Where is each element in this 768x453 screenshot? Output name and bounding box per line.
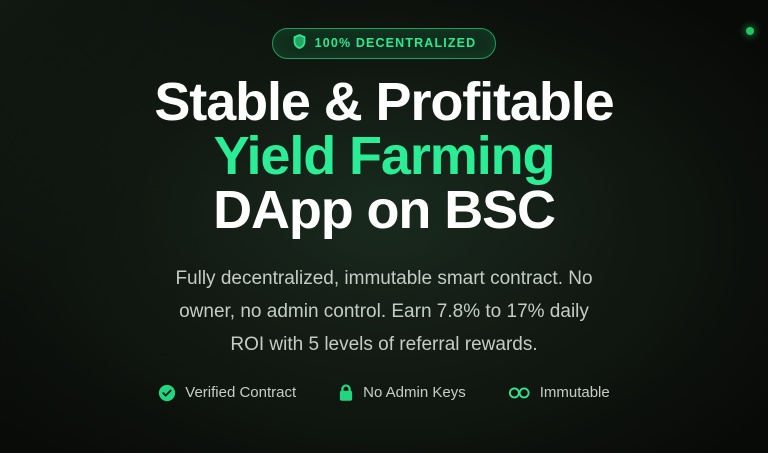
infinity-icon bbox=[508, 386, 531, 400]
feature-no-admin-keys: No Admin Keys bbox=[338, 383, 466, 402]
hero-description: Fully decentralized, immutable smart con… bbox=[174, 237, 594, 361]
feature-label: Verified Contract bbox=[185, 385, 296, 400]
decentralized-badge: 100% DECENTRALIZED bbox=[272, 28, 497, 59]
headline-line-1: Stable & Profitable bbox=[154, 75, 613, 129]
lock-icon bbox=[338, 383, 354, 402]
hero-section: 100% DECENTRALIZED Stable & Profitable Y… bbox=[0, 0, 768, 453]
check-circle-icon bbox=[158, 384, 176, 402]
feature-label: No Admin Keys bbox=[363, 385, 466, 400]
status-dot bbox=[746, 27, 754, 35]
headline-line-3: DApp on BSC bbox=[154, 183, 613, 237]
badge-label: 100% DECENTRALIZED bbox=[315, 37, 477, 50]
feature-immutable: Immutable bbox=[508, 385, 610, 400]
shield-icon bbox=[292, 33, 307, 55]
headline-line-2: Yield Farming bbox=[154, 129, 613, 183]
feature-verified-contract: Verified Contract bbox=[158, 384, 296, 402]
feature-label: Immutable bbox=[540, 385, 610, 400]
page-title: Stable & Profitable Yield Farming DApp o… bbox=[154, 59, 613, 237]
feature-list: Verified Contract No Admin Keys bbox=[158, 361, 609, 402]
